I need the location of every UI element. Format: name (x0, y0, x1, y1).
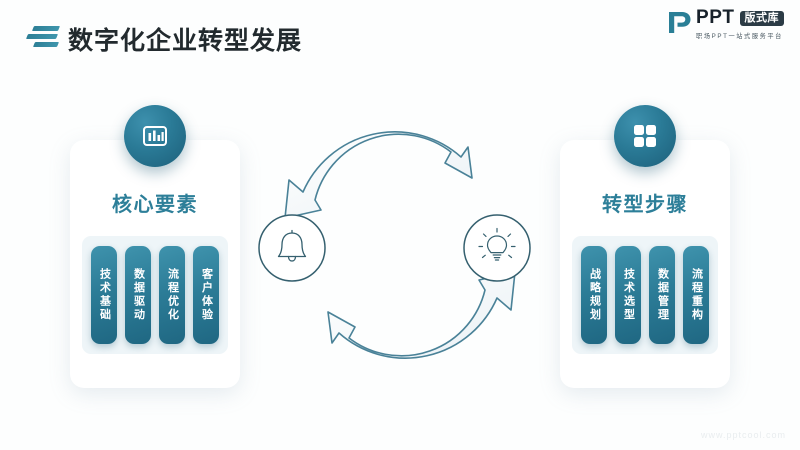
pill-item[interactable]: 技术选型 (615, 246, 641, 344)
slide-header: 数字化企业转型发展 PPT 版式库 职场PPT一站式服务平台 (0, 0, 800, 70)
watermark: www.pptcool.com (701, 430, 786, 440)
pill-item[interactable]: 战略规划 (581, 246, 607, 344)
pptcool-brand-logo[interactable]: PPT 版式库 职场PPT一站式服务平台 (666, 8, 784, 42)
grid-four-squares-icon (614, 105, 676, 167)
pill-label: 战略规划 (588, 268, 601, 322)
pill-label: 技术选型 (622, 268, 635, 322)
pill-label: 客户体验 (200, 268, 213, 322)
pill-item[interactable]: 数据管理 (649, 246, 675, 344)
card-core-elements[interactable]: 核心要素 技术基础 数据驱动 流程优化 客户体验 (70, 140, 240, 388)
curved-arrow-left-icon (285, 132, 472, 218)
slide-canvas: 数字化企业转型发展 PPT 版式库 职场PPT一站式服务平台 (0, 0, 800, 450)
pill-item[interactable]: 流程重构 (683, 246, 709, 344)
curved-arrow-right-icon (328, 272, 515, 358)
cycle-node-lightbulb[interactable] (464, 215, 530, 281)
pill-label: 技术基础 (98, 268, 111, 322)
brand-badge: 版式库 (740, 11, 785, 26)
letter-p-icon (666, 9, 692, 35)
pill-label: 流程优化 (166, 268, 179, 322)
pill-item[interactable]: 技术基础 (91, 246, 117, 344)
cycle-diagram (255, 130, 545, 360)
pill-label: 数据管理 (656, 268, 669, 322)
pill-item[interactable]: 流程优化 (159, 246, 185, 344)
card-title-transformation-steps: 转型步骤 (560, 188, 730, 217)
bar-chart-icon (124, 105, 186, 167)
card-transformation-steps[interactable]: 转型步骤 战略规划 技术选型 数据管理 流程重构 (560, 140, 730, 388)
pill-item[interactable]: 客户体验 (193, 246, 219, 344)
brand-tagline: 职场PPT一站式服务平台 (696, 31, 783, 40)
card-title-core-elements: 核心要素 (70, 188, 240, 217)
pill-container-transformation-steps: 战略规划 技术选型 数据管理 流程重构 (572, 236, 718, 354)
pill-label: 数据驱动 (132, 268, 145, 322)
pill-item[interactable]: 数据驱动 (125, 246, 151, 344)
cycle-node-bell[interactable] (259, 215, 325, 281)
page-title: 数字化企业转型发展 (68, 21, 302, 57)
pill-label: 流程重构 (690, 268, 703, 322)
pill-container-core-elements: 技术基础 数据驱动 流程优化 客户体验 (82, 236, 228, 354)
three-bars-logo-icon (25, 26, 61, 48)
brand-word: PPT (696, 8, 734, 28)
